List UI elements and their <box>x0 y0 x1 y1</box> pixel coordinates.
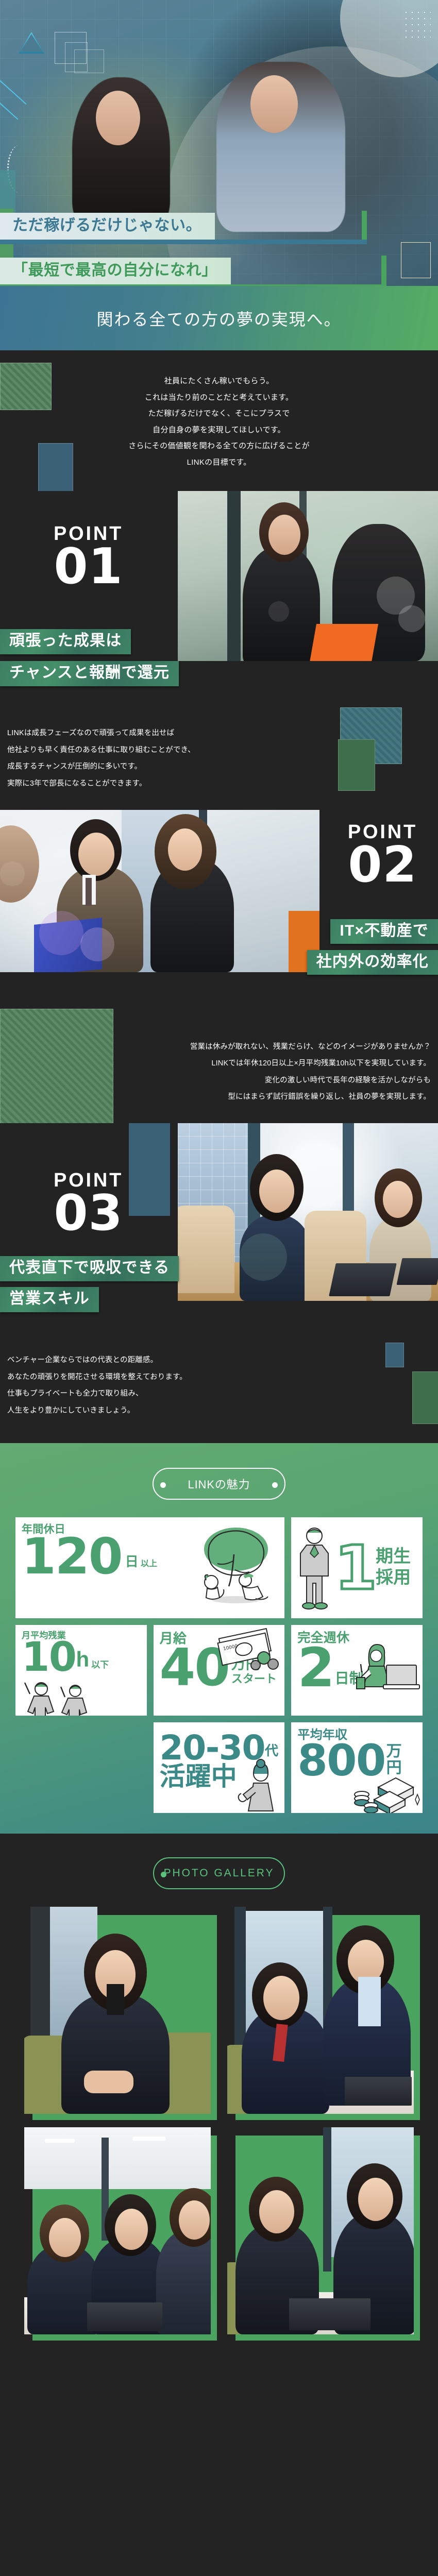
gallery-item-4[interactable] <box>227 2127 414 2334</box>
gallery-item-1[interactable] <box>24 1907 211 2114</box>
recruit-landing-page: ただ稼げるだけじゃない。 「最短で最高の自分になれ」 関わる全ての方の夢の実現へ… <box>0 0 438 2576</box>
gallery-grid <box>24 1907 414 2334</box>
point-01-headline-1: 頑張った成果は <box>0 629 131 654</box>
dot-grid-decoration <box>403 9 431 42</box>
point-02-headline-2: 社内外の効率化 <box>307 950 438 975</box>
point-03-headline-2-wrap: 営業スキル <box>0 1287 99 1312</box>
merit-card-annual-holidays: 年間休日 120 日 以上 <box>15 1517 284 1618</box>
intro-line-2: これは当たり前のことだと考えています。 <box>0 389 438 406</box>
merits-heading-text: LINKの魅力 <box>188 1476 250 1492</box>
merits-grid-row-3: 20-30 代 活躍中 平均年収 800 万 <box>15 1722 423 1813</box>
merit-value-1: 1 <box>334 1543 376 1593</box>
point-03-photo <box>178 1123 438 1301</box>
point-02-body: 営業は休みが取れない、残業だらけ、などのイメージがありませんか？ LINKでは年… <box>0 1026 438 1124</box>
triangle-icon <box>19 32 44 54</box>
merit-card-age-range: 20-30 代 活躍中 <box>154 1722 285 1813</box>
merit-suffix-sub-0: 以上 <box>141 1560 157 1568</box>
point-section-03: POINT 03 代表直下で吸収できる 営業スキル ベンチャー企業ならではの代表… <box>0 1123 438 1443</box>
tagline-banner: 関わる全ての方の夢の実現へ。 <box>0 286 438 350</box>
hero-face-right <box>250 75 298 133</box>
standing-businessman-illustration-icon <box>294 1524 334 1611</box>
hero-face-left <box>96 91 140 145</box>
banknotes-coins-illustration-icon: 10000 <box>215 1628 282 1674</box>
square-outline-icon-3 <box>74 49 104 73</box>
merits-grid-row-2: 月平均残業 10 h 以下 <box>15 1625 423 1716</box>
woman-laptop-illustration-icon <box>355 1641 422 1698</box>
point-01-label: POINT 01 <box>54 524 123 590</box>
gallery-item-3[interactable] <box>24 2127 211 2334</box>
point-03-body-line-1: ベンチャー企業ならではの代表との距離感。 <box>7 1352 438 1369</box>
point-02-number: 02 <box>348 842 417 888</box>
point-01-media: POINT 01 頑張った成果は チャンスと報酬で還元 <box>0 491 438 713</box>
merit-suffix-main-0: 日 <box>125 1554 139 1569</box>
presenting-woman-illustration-icon <box>236 1756 282 1812</box>
tagline-text: 関わる全ての方の夢の実現へ。 <box>97 307 342 330</box>
merit-card-average-income: 平均年収 800 万 円 <box>291 1722 423 1813</box>
point-03-media: POINT 03 代表直下で吸収できる 営業スキル <box>0 1123 438 1340</box>
gallery-photo-4 <box>227 2127 414 2334</box>
gallery-photo-2 <box>227 1907 414 2114</box>
point-02-headline-2-wrap: 社内外の効率化 <box>307 950 438 975</box>
point-03-body-line-3: 仕事もプライベートも全力で取り組み、 <box>7 1385 438 1402</box>
point-02-photo <box>0 810 319 972</box>
point-01-photo <box>178 491 438 661</box>
merit-suffix-sub-1: 採用 <box>376 1567 411 1588</box>
gallery-photo-3 <box>24 2127 211 2334</box>
point-section-01: POINT 01 頑張った成果は チャンスと報酬で還元 LINKは成長フェーズな… <box>0 491 438 810</box>
merit-value-0: 120 <box>22 1535 122 1578</box>
point-01-headline-1-wrap: 頑張った成果は <box>0 629 131 654</box>
point-03-body-line-2: あなたの頑張りを開花させる環境を整えております。 <box>7 1369 438 1386</box>
point-01-body: LINKは成長フェーズなので頑張って成果を出せば 他社よりも早く責任のある仕事に… <box>0 713 438 810</box>
merit-suffix-main-6: 万 <box>386 1743 402 1760</box>
point-section-02: POINT 02 IT×不動産で 社内外の効率化 営業は休みが取れない、残業だら… <box>0 810 438 1124</box>
merits-heading-pill: LINKの魅力 <box>153 1468 285 1500</box>
intro-green-stripe-block <box>0 363 52 410</box>
merit-value-4: 2 <box>297 1645 333 1691</box>
point-01-headline-2-wrap: チャンスと報酬で還元 <box>0 661 179 686</box>
money-stacks-coins-illustration-icon <box>353 1760 422 1813</box>
merit-suffix-sub-3: スタート <box>231 1672 277 1686</box>
point-02-media: POINT 02 IT×不動産で 社内外の効率化 <box>0 810 438 1026</box>
hero-catchcopy-1-text: ただ稼げるだけじゃない。 <box>0 213 215 240</box>
point-01-number: 01 <box>54 544 123 590</box>
point-03-headline-2: 営業スキル <box>0 1287 99 1312</box>
gallery-item-2[interactable] <box>227 1907 414 2114</box>
merit-suffix-main-1: 期生 <box>376 1546 411 1567</box>
intro-section: 社員にたくさん稼いでもらう。 これは当たり前のことだと考えています。 ただ稼げる… <box>0 350 438 491</box>
gallery-section: PHOTO GALLERY <box>0 1834 438 2363</box>
cheering-people-illustration-icon <box>19 1677 116 1716</box>
gallery-heading-pill: PHOTO GALLERY <box>153 1857 285 1889</box>
hero-catchcopy-1: ただ稼げるだけじゃない。 <box>0 213 362 240</box>
merit-suffix-sub-2: 以下 <box>91 1660 109 1670</box>
point-03-body: ベンチャー企業ならではの代表との距離感。 あなたの頑張りを開花させる環境を整えて… <box>0 1340 438 1443</box>
point-02-headline-1: IT×不動産で <box>330 919 438 944</box>
pill-dot-left-icon <box>160 1482 166 1488</box>
point-02-headline-1-wrap: IT×不動産で <box>330 919 438 944</box>
merit-card-two-days-off: 完全週休 2 日制 <box>291 1625 423 1716</box>
hero-frame-outline <box>401 242 431 278</box>
intro-blue-block <box>38 443 73 495</box>
merit-card-overtime: 月平均残業 10 h 以下 <box>15 1625 147 1716</box>
hero-catchcopy-2-text: 「最短で最高の自分になれ」 <box>0 258 231 284</box>
point-03-body-line-4: 人生をより豊かにしていきましょう。 <box>7 1402 438 1419</box>
merit-suffix-main-2: h <box>76 1647 89 1671</box>
merit-card-monthly-salary: 月給 40 万円 スタート 10000 <box>154 1625 285 1716</box>
merit-card-first-class-hire: 1 期生 採用 <box>291 1517 423 1618</box>
point-03-number: 03 <box>54 1190 123 1236</box>
merits-section: LINKの魅力 年間休日 120 日 以上 <box>0 1443 438 1834</box>
hero-catchcopy-2: 「最短で最高の自分になれ」 <box>0 258 381 284</box>
intro-line-3: ただ稼げるだけでなく、そこにプラスで <box>0 405 438 422</box>
intro-line-1: 社員にたくさん稼いでもらう。 <box>0 373 438 389</box>
merits-grid-row-1: 年間休日 120 日 以上 <box>15 1517 423 1618</box>
hero-section: ただ稼げるだけじゃない。 「最短で最高の自分になれ」 <box>0 0 438 286</box>
point-03-headline-1-wrap: 代表直下で吸収できる <box>0 1256 179 1281</box>
point-02-label: POINT 02 <box>348 822 417 888</box>
gallery-photo-1 <box>24 1907 211 2114</box>
merit-value-2: 10 <box>22 1640 76 1675</box>
gallery-pill-dot-icon <box>161 1872 166 1877</box>
point-03-headline-1: 代表直下で吸収できる <box>0 1256 179 1281</box>
merit-spacer-cell <box>15 1722 147 1813</box>
point-03-label: POINT 03 <box>54 1171 123 1236</box>
tree-dog-person-illustration-icon <box>178 1522 281 1615</box>
gallery-heading-text: PHOTO GALLERY <box>164 1867 275 1879</box>
point-01-headline-2: チャンスと報酬で還元 <box>0 661 179 686</box>
intro-line-4: 自分自身の夢を実現してほしいです。 <box>0 422 438 438</box>
pill-dot-right-icon <box>272 1482 278 1488</box>
